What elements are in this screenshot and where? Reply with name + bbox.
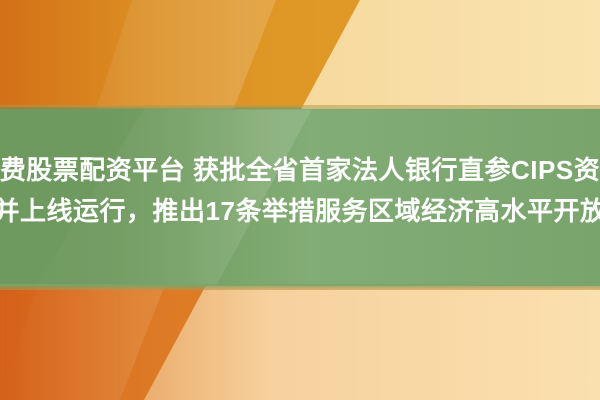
news-banner-image: 免费股票配资平台 获批全省首家法人银行直参CIPS资格并上线运行，推出17条举措…: [0, 0, 600, 400]
green-band-bottom-edge: [0, 284, 600, 290]
headline-text: 免费股票配资平台 获批全省首家法人银行直参CIPS资格并上线运行，推出17条举措…: [0, 150, 600, 232]
green-band-top-edge: [0, 105, 600, 110]
